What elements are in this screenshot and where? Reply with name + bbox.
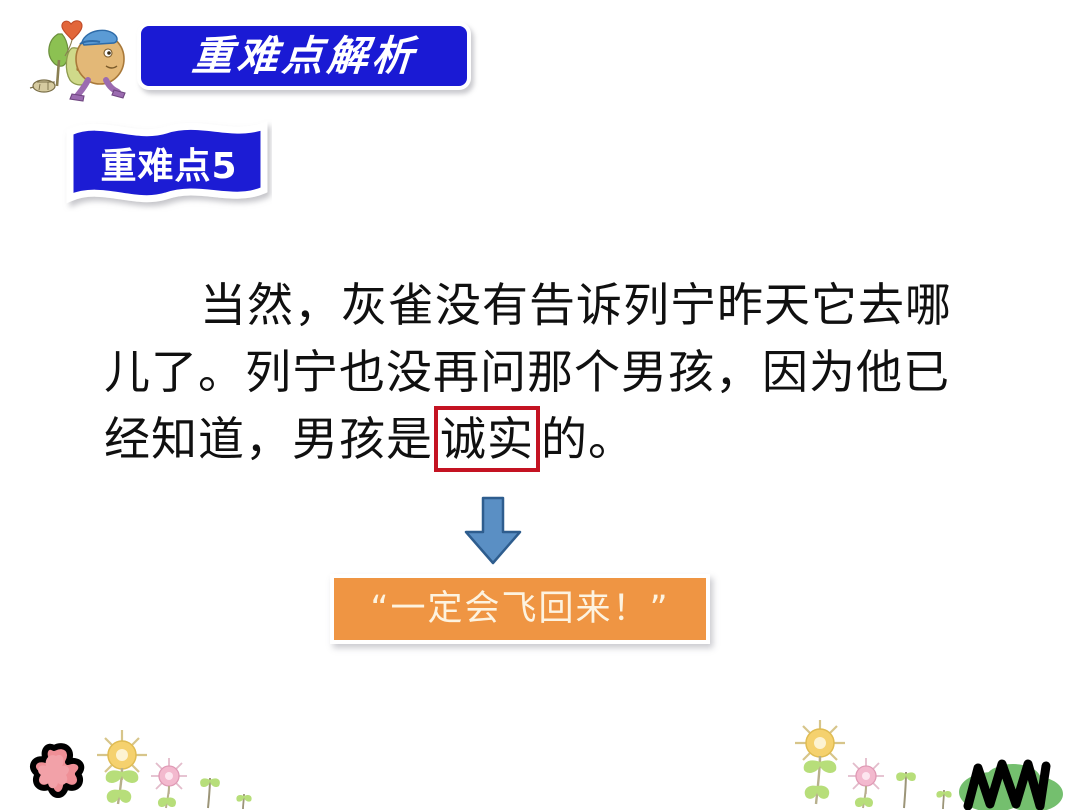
yellow-daisy-icon (97, 730, 147, 804)
paragraph-line-3: 经知道，男孩是诚实的。 (104, 406, 984, 473)
pink-daisy-icon (151, 758, 187, 808)
small-sprout-icon (936, 790, 951, 809)
down-arrow-icon (462, 496, 524, 566)
small-sprout-icon (236, 794, 251, 809)
quote-callout-text: “一定会飞回来！” (370, 592, 669, 627)
paragraph-line-3-after: 的。 (541, 412, 635, 466)
decoration-left (14, 720, 264, 810)
highlighted-word-box: 诚实 (434, 406, 540, 472)
key-point-badge-label: 重难点5 (62, 114, 272, 212)
lesson-paragraph: 当然，灰雀没有告诉列宁昨天它去哪 儿了。列宁也没再问那个男孩，因为他已 经知道，… (104, 272, 984, 473)
paragraph-line-2-text: 儿了。列宁也没再问那个男孩，因为他已 (104, 345, 950, 399)
walking-egg-character-icon (22, 12, 134, 108)
page-title: 重难点解析 (190, 36, 418, 77)
pink-daisy-icon (848, 758, 884, 808)
slide-title-banner: 重难点解析 (137, 22, 471, 90)
mascot-illustration (22, 12, 134, 108)
down-arrow (462, 496, 524, 566)
key-point-badge: 重难点5 (62, 114, 272, 212)
sprout-icon (896, 772, 916, 808)
pink-flower-icon (33, 746, 81, 795)
yellow-daisy-icon (795, 720, 845, 804)
decoration-right (778, 720, 1078, 810)
green-grass-icon (959, 764, 1063, 810)
paragraph-line-2: 儿了。列宁也没再问那个男孩，因为他已 (104, 339, 984, 406)
sprout-icon (200, 778, 220, 808)
quote-callout: “一定会飞回来！” (330, 574, 710, 644)
paragraph-line-1-text: 当然，灰雀没有告诉列宁昨天它去哪 (200, 278, 952, 332)
paragraph-line-1: 当然，灰雀没有告诉列宁昨天它去哪 (104, 272, 984, 339)
paragraph-line-3-before: 经知道，男孩是 (104, 412, 433, 466)
